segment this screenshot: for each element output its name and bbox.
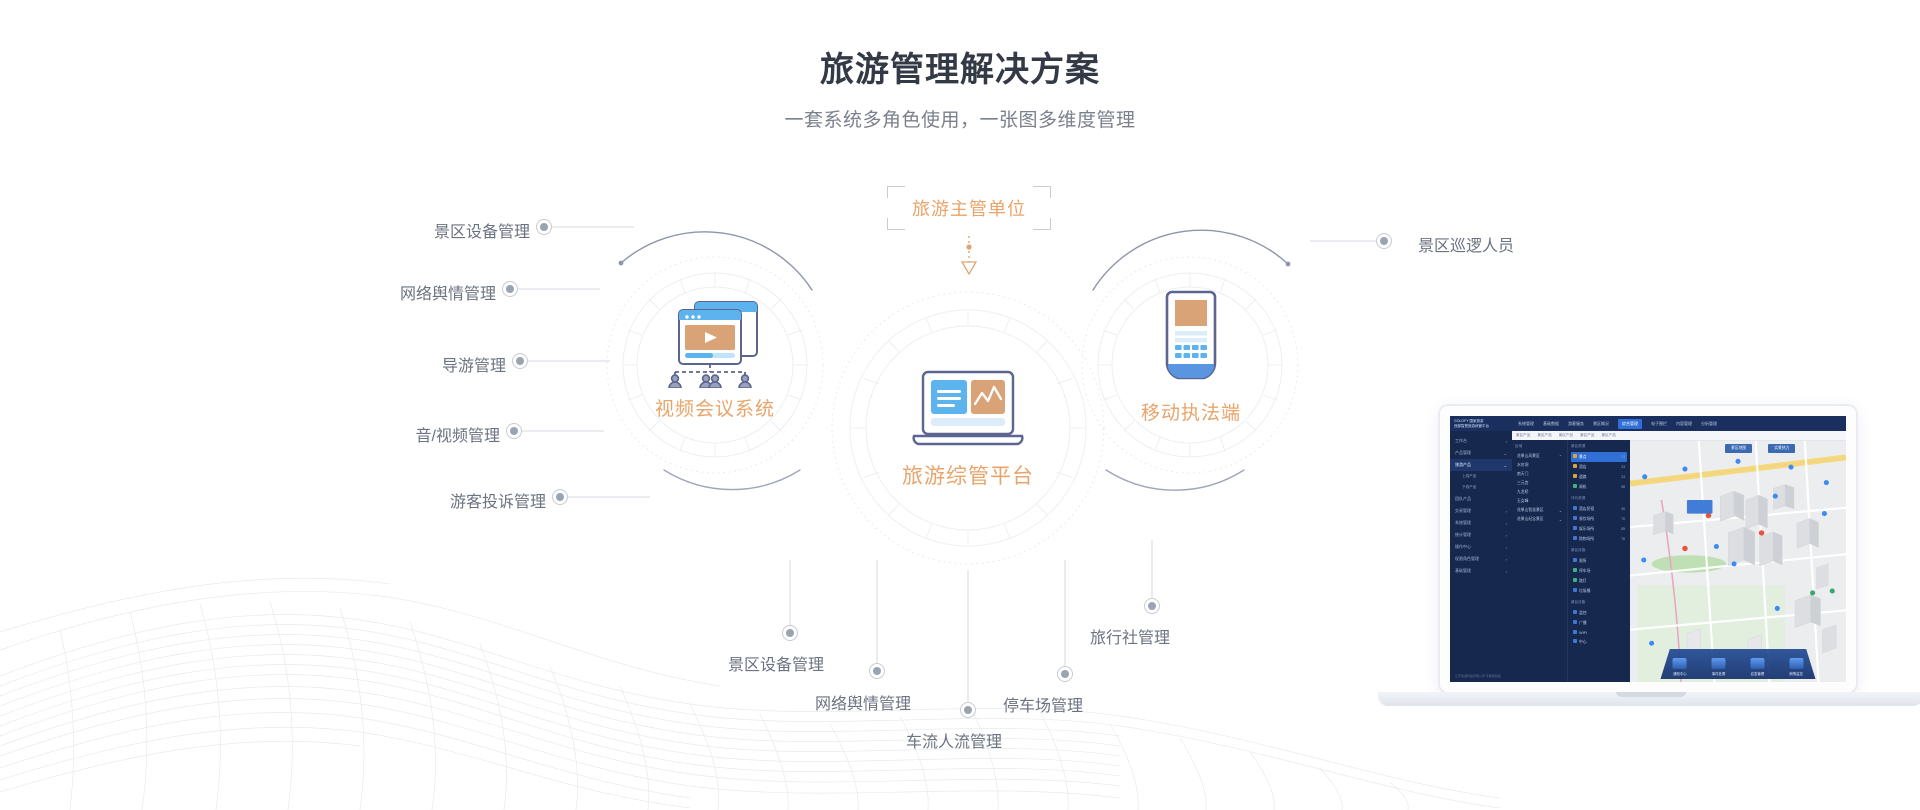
mockup-resource-label-1-3: 购物场所 — [1579, 537, 1594, 541]
mockup-resource-label-3-2: WIFI — [1579, 631, 1587, 635]
map-canvas — [1630, 440, 1846, 682]
mockup-nav-item-7[interactable]: 分析管理 — [1701, 421, 1717, 427]
mockup-tab-4[interactable]: 景区产品 — [1602, 433, 1616, 438]
mockup-sidebar-item-3[interactable]: 上线产品 — [1450, 471, 1512, 482]
mockup-resource-count-0-0: 23 — [1621, 455, 1625, 459]
map-dock-label-3: 舆情监控 — [1789, 672, 1803, 676]
mockup-region-label-0: 花果山风景区 — [1517, 454, 1540, 459]
mockup-resource-column: 景区资源 景点23 酒店23 道路23 闸机58 评价资源 酒店民宿45 餐饮场… — [1568, 440, 1630, 682]
right-node-dot-0[interactable] — [1376, 233, 1392, 249]
mockup-sidebar-label-0: 工作台 — [1455, 438, 1467, 444]
mockup-sidebar-item-4[interactable]: 下线产品 — [1450, 482, 1512, 493]
mockup-region-row-5[interactable]: 玉女峰 — [1515, 497, 1564, 506]
mockup-sidebar-label-10: 权限角色管理 — [1455, 556, 1479, 562]
mockup-nav-item-3[interactable]: 景区概况 — [1593, 421, 1609, 427]
bottom-node-dot-1[interactable] — [869, 663, 885, 679]
mockup-sidebar-footer: 江苏旅游科技有限公司 专属授权版 — [1455, 674, 1501, 679]
mockup-nav-item-0[interactable]: 系统管理 — [1518, 421, 1534, 427]
mockup-sidebar-item-0[interactable]: 工作台› — [1450, 435, 1512, 447]
hub-mobile-enforcement[interactable]: 移动执法端 — [1105, 288, 1277, 425]
mockup-sidebar-label-8: 统计管理 — [1455, 532, 1471, 538]
mockup-resource-label-2-3: 垃圾桶 — [1579, 589, 1590, 593]
mockup-region-title: 区域 — [1515, 444, 1564, 449]
mobile-device-icon — [1152, 288, 1230, 392]
mockup-sidebar: 工作台› 产品管理⌄ 旅游产品⌄ 上线产品 下线产品 团队产品 交易管理› 系统… — [1450, 431, 1512, 682]
mockup-region-label-4: 九龙桥 — [1517, 490, 1528, 495]
chevron-right-icon: › — [1506, 569, 1507, 574]
mockup-resource-row-0-2[interactable]: 道路23 — [1571, 472, 1627, 482]
hub-left-caption: 视频会议系统 — [628, 394, 802, 421]
solution-infographic-page: 旅游管理解决方案 一套系统多角色使用，一张图多维度管理 — [0, 0, 1920, 810]
right-node-label-0[interactable]: 景区巡逻人员 — [1418, 232, 1514, 256]
bottom-node-dot-3[interactable] — [1057, 666, 1073, 682]
marker-swatch-icon — [1573, 578, 1577, 582]
hub-right-caption: 移动执法端 — [1105, 398, 1277, 425]
mockup-group-title-2: 景区设施 — [1571, 548, 1627, 553]
page-subtitle: 一套系统多角色使用，一张图多维度管理 — [0, 105, 1920, 132]
mockup-resource-label-1-2: 娱乐场所 — [1579, 527, 1594, 531]
mockup-resource-count-1-2: 55 — [1621, 527, 1625, 531]
mockup-sidebar-label-1: 产品管理 — [1455, 450, 1471, 456]
marker-swatch-icon — [1573, 454, 1577, 458]
mockup-resource-row-1-1[interactable]: 餐饮场所70 — [1571, 514, 1627, 524]
mockup-region-label-1: 水帘洞 — [1517, 463, 1528, 468]
mockup-resource-row-3-1[interactable]: 广播 — [1571, 618, 1627, 628]
mockup-group-title-0: 景区资源 — [1571, 444, 1627, 449]
mockup-resource-row-3-2[interactable]: WIFI — [1571, 628, 1627, 637]
map-dock: 通知中心 事件处置 应急管理 舆情监控 — [1661, 649, 1816, 679]
laptop-mockup: GOLOFY 国家旅游 西部智慧旅游综管平台 系统管理 基础数据 游客服务 景区… — [1378, 404, 1920, 774]
mockup-resource-count-1-1: 70 — [1621, 517, 1625, 521]
mockup-resource-label-3-3: 中心 — [1579, 640, 1587, 644]
map-dock-item-1[interactable]: 事件处置 — [1712, 658, 1726, 676]
authority-box: 旅游主管单位 — [887, 186, 1051, 230]
mockup-topbar: GOLOFY 国家旅游 西部智慧旅游综管平台 系统管理 基础数据 游客服务 景区… — [1450, 416, 1846, 431]
mockup-nav-item-5[interactable]: 电子围栏 — [1651, 421, 1667, 427]
marker-swatch-icon — [1573, 464, 1577, 468]
hub-tourism-platform[interactable]: 旅游综管平台 — [878, 368, 1058, 490]
chevron-right-icon: › — [1506, 533, 1507, 538]
marker-swatch-icon — [1573, 474, 1577, 478]
mockup-resource-label-3-0: 监控 — [1579, 611, 1587, 615]
bottom-node-dot-0[interactable] — [782, 625, 798, 641]
mockup-sidebar-item-8[interactable]: 统计管理› — [1450, 529, 1512, 541]
laptop-dashboard-icon — [906, 368, 1030, 454]
laptop-screen-body: GOLOFY 国家旅游 西部智慧旅游综管平台 系统管理 基础数据 游客服务 景区… — [1438, 404, 1858, 694]
authority-label: 旅游主管单位 — [887, 186, 1051, 230]
public-opinion-monitor-icon — [1789, 658, 1803, 669]
mockup-sidebar-item-5[interactable]: 团队产品 — [1450, 493, 1512, 505]
marker-swatch-icon — [1573, 568, 1577, 572]
chevron-right-icon: › — [1506, 439, 1507, 444]
marker-swatch-icon — [1573, 620, 1577, 624]
bottom-node-label-2[interactable]: 车流人流管理 — [906, 728, 1002, 752]
left-node-dot-2[interactable] — [512, 353, 528, 369]
mockup-resource-row-2-1[interactable]: 停车场 — [1571, 566, 1627, 576]
map-pill-1[interactable]: 实景热力 — [1768, 444, 1795, 453]
chevron-down-icon: ⌄ — [1559, 508, 1562, 513]
mockup-region-label-3: 三元宫 — [1517, 481, 1528, 486]
marker-swatch-icon — [1573, 630, 1577, 634]
mockup-resource-label-1-0: 酒店民宿 — [1579, 507, 1594, 511]
left-node-label-2[interactable]: 导游管理 — [276, 352, 506, 376]
mockup-logo-line2: 西部智慧旅游综管平台 — [1454, 424, 1512, 429]
chevron-up-icon: ⌃ — [1559, 454, 1562, 459]
left-node-dot-1[interactable] — [502, 281, 518, 297]
left-node-dot-4[interactable] — [552, 489, 568, 505]
mockup-sidebar-item-10[interactable]: 权限角色管理› — [1450, 553, 1512, 565]
mockup-resource-count-0-2: 23 — [1621, 475, 1625, 479]
map-dock-item-3[interactable]: 舆情监控 — [1789, 658, 1803, 676]
mockup-resource-row-0-0[interactable]: 景点23 — [1571, 452, 1627, 462]
mockup-region-row-4[interactable]: 九龙桥 — [1515, 488, 1564, 497]
mockup-logo: GOLOFY 国家旅游 西部智慧旅游综管平台 — [1450, 419, 1512, 428]
chevron-right-icon: › — [1506, 509, 1507, 514]
mockup-resource-count-0-1: 23 — [1621, 465, 1625, 469]
mockup-resource-row-1-0[interactable]: 酒店民宿45 — [1571, 504, 1627, 514]
mockup-nav-item-2[interactable]: 游客服务 — [1568, 421, 1584, 427]
chevron-right-icon: › — [1506, 521, 1507, 526]
mockup-resource-label-0-2: 道路 — [1579, 475, 1587, 479]
map-dock-label-1: 事件处置 — [1712, 672, 1726, 676]
mockup-sidebar-item-6[interactable]: 交易管理› — [1450, 505, 1512, 517]
mockup-map[interactable]: 景区地图 实景热力 通知中心 事件处置 应急管理 — [1630, 440, 1846, 682]
left-node-label-0[interactable]: 景区设备管理 — [300, 218, 530, 242]
chevron-down-icon: ⌄ — [1559, 517, 1562, 522]
mockup-resource-row-0-3[interactable]: 闸机58 — [1571, 482, 1627, 492]
marker-swatch-icon — [1573, 588, 1577, 592]
mockup-region-row-6[interactable]: 花果山智慧景区⌄ — [1515, 506, 1564, 515]
mockup-region-label-5: 玉女峰 — [1517, 499, 1528, 504]
map-dock-item-2[interactable]: 应急管理 — [1750, 658, 1764, 676]
laptop-screen-content: GOLOFY 国家旅游 西部智慧旅游综管平台 系统管理 基础数据 游客服务 景区… — [1450, 416, 1846, 682]
mockup-region-column: 区域 花果山风景区⌃ 水帘洞 南天门 三元宫 九龙桥 玉女峰 花果山智慧景区⌄ … — [1512, 440, 1568, 682]
mockup-region-row-1[interactable]: 水帘洞 — [1515, 461, 1564, 470]
marker-swatch-icon — [1573, 639, 1577, 643]
mockup-sidebar-label-9: 操作中心 — [1455, 544, 1471, 550]
mockup-resource-row-1-3[interactable]: 购物场所76 — [1571, 534, 1627, 544]
mockup-sidebar-item-2[interactable]: 旅游产品⌄ — [1450, 459, 1512, 471]
mockup-resource-row-2-0[interactable]: 厕所 — [1571, 556, 1627, 566]
mockup-nav: 系统管理 基础数据 游客服务 景区概况 综合管理 电子围栏 内容管理 分析管理 — [1512, 419, 1846, 429]
mockup-resource-count-1-3: 76 — [1621, 537, 1625, 541]
hub-video-conference[interactable]: 视频会议系统 — [628, 288, 802, 421]
mockup-sidebar-label-11: 基础管理 — [1455, 568, 1471, 574]
mockup-region-label-6: 花果山智慧景区 — [1517, 508, 1544, 513]
marker-swatch-icon — [1573, 610, 1577, 614]
chevron-right-icon: › — [1506, 557, 1507, 562]
left-node-label-1[interactable]: 网络舆情管理 — [266, 280, 496, 304]
mockup-sidebar-label-2: 旅游产品 — [1455, 462, 1471, 468]
emergency-management-icon — [1750, 658, 1764, 669]
marker-swatch-icon — [1573, 526, 1577, 530]
laptop-base — [1378, 692, 1920, 706]
map-dock-label-2: 应急管理 — [1751, 672, 1765, 676]
mockup-region-row-3[interactable]: 三元宫 — [1515, 479, 1564, 488]
left-node-dot-0[interactable] — [536, 219, 552, 235]
marker-swatch-icon — [1573, 484, 1577, 488]
marker-swatch-icon — [1573, 558, 1577, 562]
mockup-resource-label-2-2: 路灯 — [1579, 579, 1587, 583]
mockup-region-row-7[interactable]: 花果山纪念景区⌄ — [1515, 515, 1564, 524]
bottom-node-label-1[interactable]: 网络舆情管理 — [815, 690, 911, 714]
mockup-sidebar-label-7: 系统管理 — [1455, 520, 1471, 526]
mockup-tab-3[interactable]: 景区产品 — [1580, 433, 1594, 438]
hub-center-caption: 旅游综管平台 — [878, 460, 1058, 490]
chevron-down-icon: ⌄ — [1504, 463, 1507, 468]
mockup-region-row-0[interactable]: 花果山风景区⌃ — [1515, 452, 1564, 461]
mockup-nav-item-1[interactable]: 基础数据 — [1543, 421, 1559, 427]
mockup-tab-1[interactable]: 景区产品 — [1537, 433, 1551, 438]
map-pill-0[interactable]: 景区地图 — [1725, 444, 1752, 453]
mockup-tab-0[interactable]: 景区产品 — [1516, 433, 1530, 438]
video-conference-icon — [649, 288, 781, 388]
chevron-down-icon: ⌄ — [1504, 451, 1507, 456]
mockup-sidebar-item-1[interactable]: 产品管理⌄ — [1450, 447, 1512, 459]
mockup-resource-count-0-3: 58 — [1621, 485, 1625, 489]
mockup-sidebar-label-4: 下线产品 — [1462, 485, 1476, 490]
bottom-node-label-4[interactable]: 旅行社管理 — [1090, 624, 1170, 648]
bottom-node-dot-2[interactable] — [960, 702, 976, 718]
mockup-sidebar-item-7[interactable]: 系统管理› — [1450, 517, 1512, 529]
mockup-resource-row-1-2[interactable]: 娱乐场所55 — [1571, 524, 1627, 534]
bottom-node-label-3[interactable]: 停车场管理 — [1003, 692, 1083, 716]
bottom-node-label-0[interactable]: 景区设备管理 — [728, 651, 824, 675]
map-dock-item-0[interactable]: 通知中心 — [1673, 658, 1687, 676]
map-dock-label-0: 通知中心 — [1673, 672, 1687, 676]
mockup-resource-label-2-0: 厕所 — [1579, 559, 1587, 563]
mockup-sidebar-item-11[interactable]: 基础管理› — [1450, 565, 1512, 577]
mockup-resource-label-1-1: 餐饮场所 — [1579, 517, 1594, 521]
mockup-tab-2[interactable]: 景区产品 — [1559, 433, 1573, 438]
mockup-resource-label-0-1: 酒店 — [1579, 465, 1587, 469]
chevron-right-icon: › — [1506, 545, 1507, 550]
mockup-sidebar-label-6: 交易管理 — [1455, 508, 1471, 514]
mockup-sidebar-label-5: 团队产品 — [1455, 496, 1471, 502]
mockup-resource-label-0-0: 景点 — [1579, 455, 1587, 459]
mockup-region-label-7: 花果山纪念景区 — [1517, 517, 1544, 522]
mockup-resource-row-0-1[interactable]: 酒店23 — [1571, 462, 1627, 472]
mockup-resource-label-2-1: 停车场 — [1579, 569, 1590, 573]
mockup-region-row-2[interactable]: 南天门 — [1515, 470, 1564, 479]
mockup-sidebar-label-3: 上线产品 — [1462, 474, 1476, 479]
mockup-resource-row-2-2[interactable]: 路灯 — [1571, 576, 1627, 586]
marker-swatch-icon — [1573, 506, 1577, 510]
marker-swatch-icon — [1573, 536, 1577, 540]
notification-center-icon — [1673, 658, 1687, 669]
mockup-resource-label-0-3: 闸机 — [1579, 485, 1587, 489]
mockup-group-title-1: 评价资源 — [1571, 496, 1627, 501]
mockup-resource-label-3-1: 广播 — [1579, 621, 1587, 625]
left-node-dot-3[interactable] — [506, 423, 522, 439]
event-handling-icon — [1712, 658, 1726, 669]
mockup-filter-panel: 区域 花果山风景区⌃ 水帘洞 南天门 三元宫 九龙桥 玉女峰 花果山智慧景区⌄ … — [1512, 440, 1630, 682]
mockup-region-label-2: 南天门 — [1517, 472, 1528, 477]
left-node-label-4[interactable]: 游客投诉管理 — [316, 488, 546, 512]
mockup-resource-row-3-0[interactable]: 监控 — [1571, 608, 1627, 618]
page-title: 旅游管理解决方案 — [0, 42, 1920, 91]
marker-swatch-icon — [1573, 516, 1577, 520]
mockup-resource-count-1-0: 45 — [1621, 507, 1625, 511]
mockup-nav-item-6[interactable]: 内容管理 — [1676, 421, 1692, 427]
mockup-sidebar-item-9[interactable]: 操作中心› — [1450, 541, 1512, 553]
left-node-label-3[interactable]: 音/视频管理 — [270, 422, 500, 446]
mockup-resource-row-2-3[interactable]: 垃圾桶 — [1571, 586, 1627, 596]
mockup-resource-row-3-3[interactable]: 中心 — [1571, 637, 1627, 647]
mockup-group-title-3: 景区设备 — [1571, 600, 1627, 605]
bottom-node-dot-4[interactable] — [1144, 598, 1160, 614]
mockup-nav-item-4[interactable]: 综合管理 — [1618, 419, 1642, 429]
